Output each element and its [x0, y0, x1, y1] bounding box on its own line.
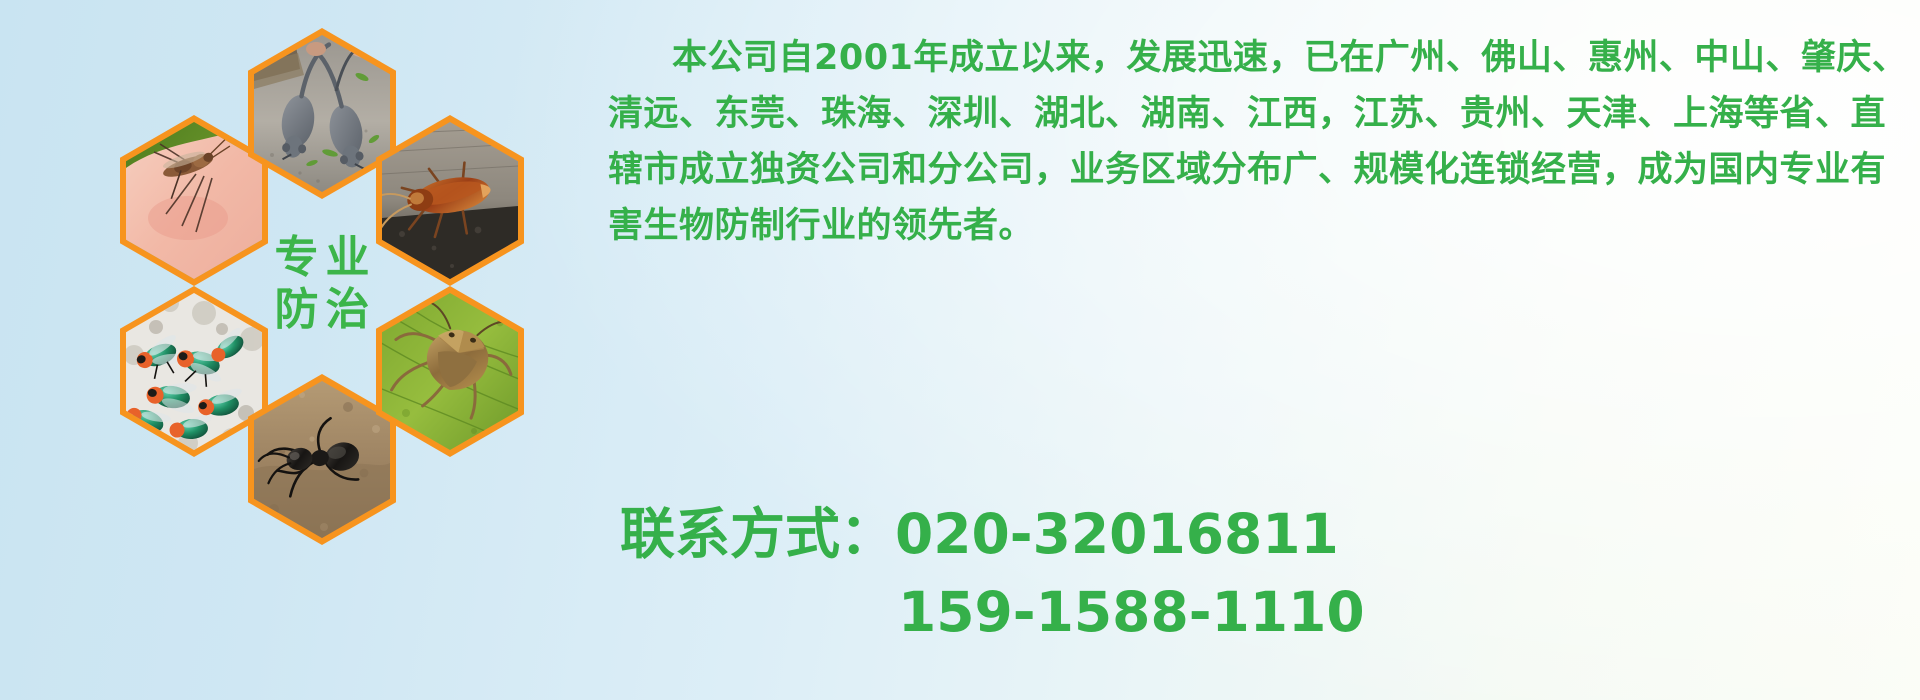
stinkbug-icon	[382, 293, 518, 450]
ant-photo	[254, 381, 390, 538]
mosquito-photo	[126, 122, 262, 279]
hex-center-label: 专业 防治	[246, 196, 398, 372]
mosquito-icon	[126, 122, 262, 279]
contact-line-primary[interactable]: 联系方式：020-32016811	[620, 495, 1920, 573]
fly-photo	[126, 293, 262, 450]
hex-tile-rodents[interactable]	[248, 28, 396, 199]
cockroach-photo	[382, 122, 518, 279]
company-intro: 本公司自2001年成立以来，发展迅速，已在广州、佛山、惠州、中山、肇庆、清远、东…	[608, 30, 1908, 254]
hex-tile-flies[interactable]	[120, 286, 268, 457]
center-label-line1: 专业	[268, 232, 377, 284]
cockroach-icon	[382, 122, 518, 279]
rodent-icon	[254, 35, 390, 192]
hexagon-photo-cluster: 专业 防治	[98, 12, 618, 572]
banner-root: 专业 防治 本公司自2001年成立以来，发展迅速，已在广州、佛山、惠州、中山、肇…	[0, 0, 1920, 700]
stinkbug-photo	[382, 293, 518, 450]
ant-icon	[254, 381, 390, 538]
fly-icon	[126, 293, 262, 450]
company-intro-paragraph: 本公司自2001年成立以来，发展迅速，已在广州、佛山、惠州、中山、肇庆、清远、东…	[608, 30, 1908, 254]
hex-tile-stinkbug[interactable]	[376, 286, 524, 457]
hex-tile-cockroach[interactable]	[376, 115, 524, 286]
hex-tile-mosquito[interactable]	[120, 115, 268, 286]
contact-line-secondary[interactable]: 159-1588-1110	[620, 573, 1920, 651]
rodent-photo	[254, 35, 390, 192]
contact-block: 联系方式：020-32016811 159-1588-1110	[620, 495, 1920, 651]
center-label-line2: 防治	[268, 284, 377, 336]
hex-tile-ant[interactable]	[248, 374, 396, 545]
